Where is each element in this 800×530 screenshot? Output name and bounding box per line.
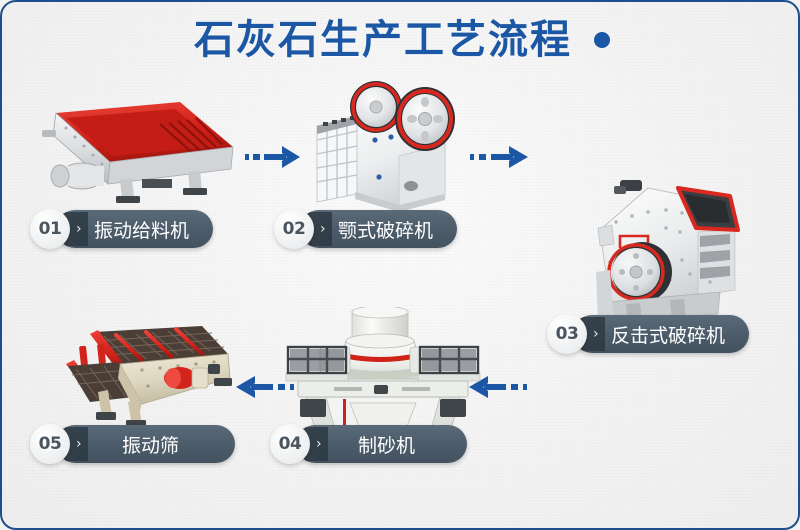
step-label-text-03: 反击式破碎机 bbox=[611, 321, 725, 348]
step-pill-02[interactable]: › 颚式破碎机 bbox=[300, 210, 457, 248]
step-pill-01[interactable]: › 振动给料机 bbox=[56, 210, 213, 248]
chevron-right-icon: › bbox=[320, 222, 326, 236]
machine-vibrating-screen bbox=[42, 320, 242, 432]
flowchart-canvas: 石灰石生产工艺流程 bbox=[0, 0, 800, 530]
step-label-01[interactable]: 01 › 振动给料机 bbox=[30, 210, 213, 248]
machine-vibrating-feeder bbox=[20, 80, 245, 210]
dot-marker-icon bbox=[594, 32, 610, 48]
step-pill-03[interactable]: › 反击式破碎机 bbox=[573, 315, 749, 353]
machine-sand-making-machine bbox=[274, 307, 492, 437]
arrow-01-to-02 bbox=[245, 142, 303, 177]
step-label-04[interactable]: 04 › 制砂机 bbox=[270, 425, 467, 463]
chevron-right-icon: › bbox=[593, 327, 599, 341]
step-label-text-02: 颚式破碎机 bbox=[338, 216, 433, 243]
page-title: 石灰石生产工艺流程 bbox=[194, 20, 572, 60]
step-label-text-05: 振动筛 bbox=[122, 431, 179, 458]
step-badge-01: 01 bbox=[30, 209, 70, 249]
step-badge-03: 03 bbox=[547, 314, 587, 354]
machine-impact-crusher bbox=[570, 170, 795, 335]
chevron-right-icon: › bbox=[76, 437, 82, 451]
machine-jaw-crusher bbox=[299, 74, 469, 214]
title-row: 石灰石生产工艺流程 bbox=[2, 20, 800, 60]
step-badge-04: 04 bbox=[270, 424, 310, 464]
step-label-03[interactable]: 03 › 反击式破碎机 bbox=[547, 315, 749, 353]
step-pill-05[interactable]: › 振动筛 bbox=[56, 425, 235, 463]
step-label-02[interactable]: 02 › 颚式破碎机 bbox=[274, 210, 457, 248]
step-pill-04[interactable]: › 制砂机 bbox=[296, 425, 467, 463]
step-label-05[interactable]: 05 › 振动筛 bbox=[30, 425, 235, 463]
step-badge-02: 02 bbox=[274, 209, 314, 249]
chevron-right-icon: › bbox=[76, 222, 82, 236]
step-label-text-01: 振动给料机 bbox=[94, 216, 189, 243]
step-badge-05: 05 bbox=[30, 424, 70, 464]
arrow-02-to-03 bbox=[470, 142, 532, 177]
chevron-right-icon: › bbox=[316, 437, 322, 451]
step-label-text-04: 制砂机 bbox=[358, 431, 415, 458]
